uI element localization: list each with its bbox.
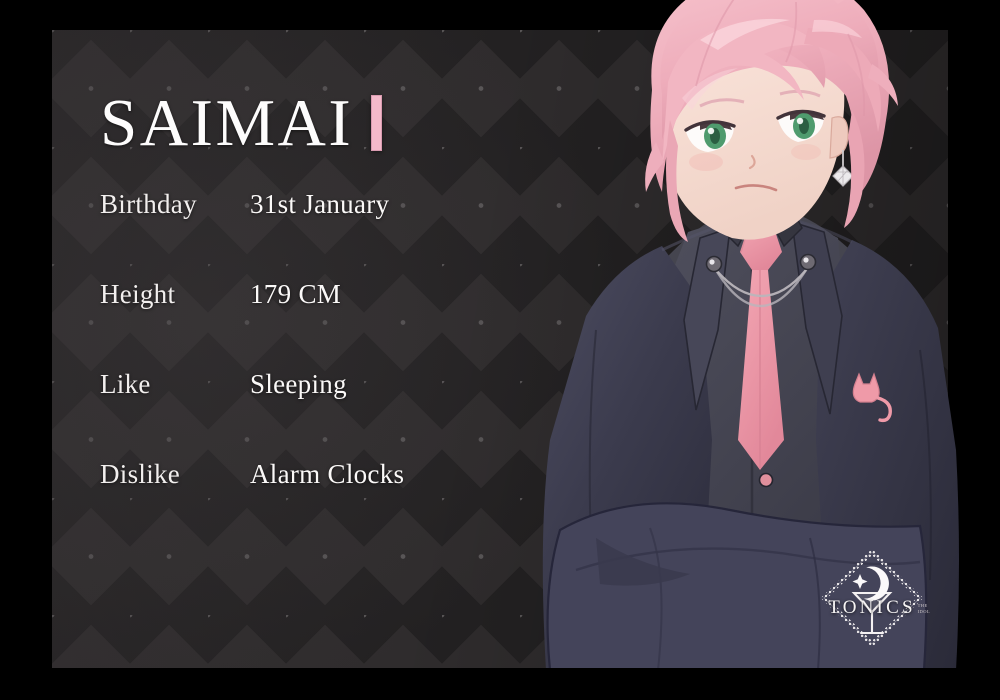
stat-row-like: Like Sleeping (100, 369, 520, 459)
stat-label-height: Height (100, 279, 250, 310)
stat-label-birthday: Birthday (100, 189, 250, 220)
character-name: SAIMAI (100, 90, 353, 157)
brand-wordmark: TONICS (816, 598, 928, 617)
character-profile-card: SAIMAI Birthday 31st January Height 179 … (52, 30, 948, 668)
stat-value-like: Sleeping (250, 369, 347, 400)
stat-label-dislike: Dislike (100, 459, 250, 490)
sparkle-icon (853, 574, 868, 589)
character-info-panel: SAIMAI Birthday 31st January Height 179 … (100, 85, 520, 549)
stat-value-height: 179 CM (250, 279, 341, 310)
character-stats-list: Birthday 31st January Height 179 CM Like… (100, 189, 520, 549)
stat-value-dislike: Alarm Clocks (250, 459, 404, 490)
stat-row-birthday: Birthday 31st January (100, 189, 520, 279)
stat-value-birthday: 31st January (250, 189, 389, 220)
brand-sub-text: THE IDOL (918, 603, 930, 614)
screenshot-canvas: SAIMAI Birthday 31st January Height 179 … (0, 0, 1000, 700)
stat-row-height: Height 179 CM (100, 279, 520, 369)
stat-row-dislike: Dislike Alarm Clocks (100, 459, 520, 549)
name-accent-bar (371, 95, 382, 151)
stat-label-like: Like (100, 369, 250, 400)
character-name-row: SAIMAI (100, 85, 520, 161)
tonics-brand-logo: TONICS THE IDOL (816, 546, 928, 650)
brand-sub-line-2: IDOL (918, 609, 930, 615)
